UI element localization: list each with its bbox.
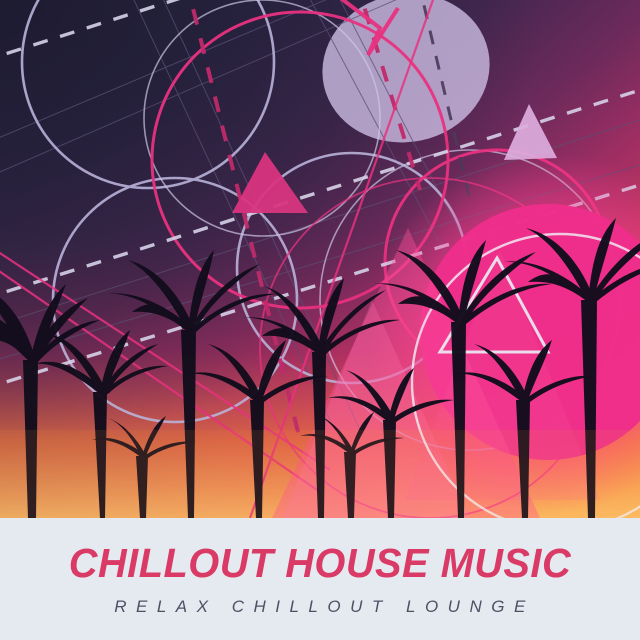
foreground-haze: [0, 430, 640, 518]
title-panel: CHILLOUT HOUSE MUSIC RELAX CHILLOUT LOUN…: [0, 518, 640, 640]
album-subtitle: RELAX CHILLOUT LOUNGE: [105, 598, 535, 615]
cover-artwork: [0, 0, 640, 518]
album-title: CHILLOUT HOUSE MUSIC: [69, 543, 571, 584]
album-cover: CHILLOUT HOUSE MUSIC RELAX CHILLOUT LOUN…: [0, 0, 640, 640]
